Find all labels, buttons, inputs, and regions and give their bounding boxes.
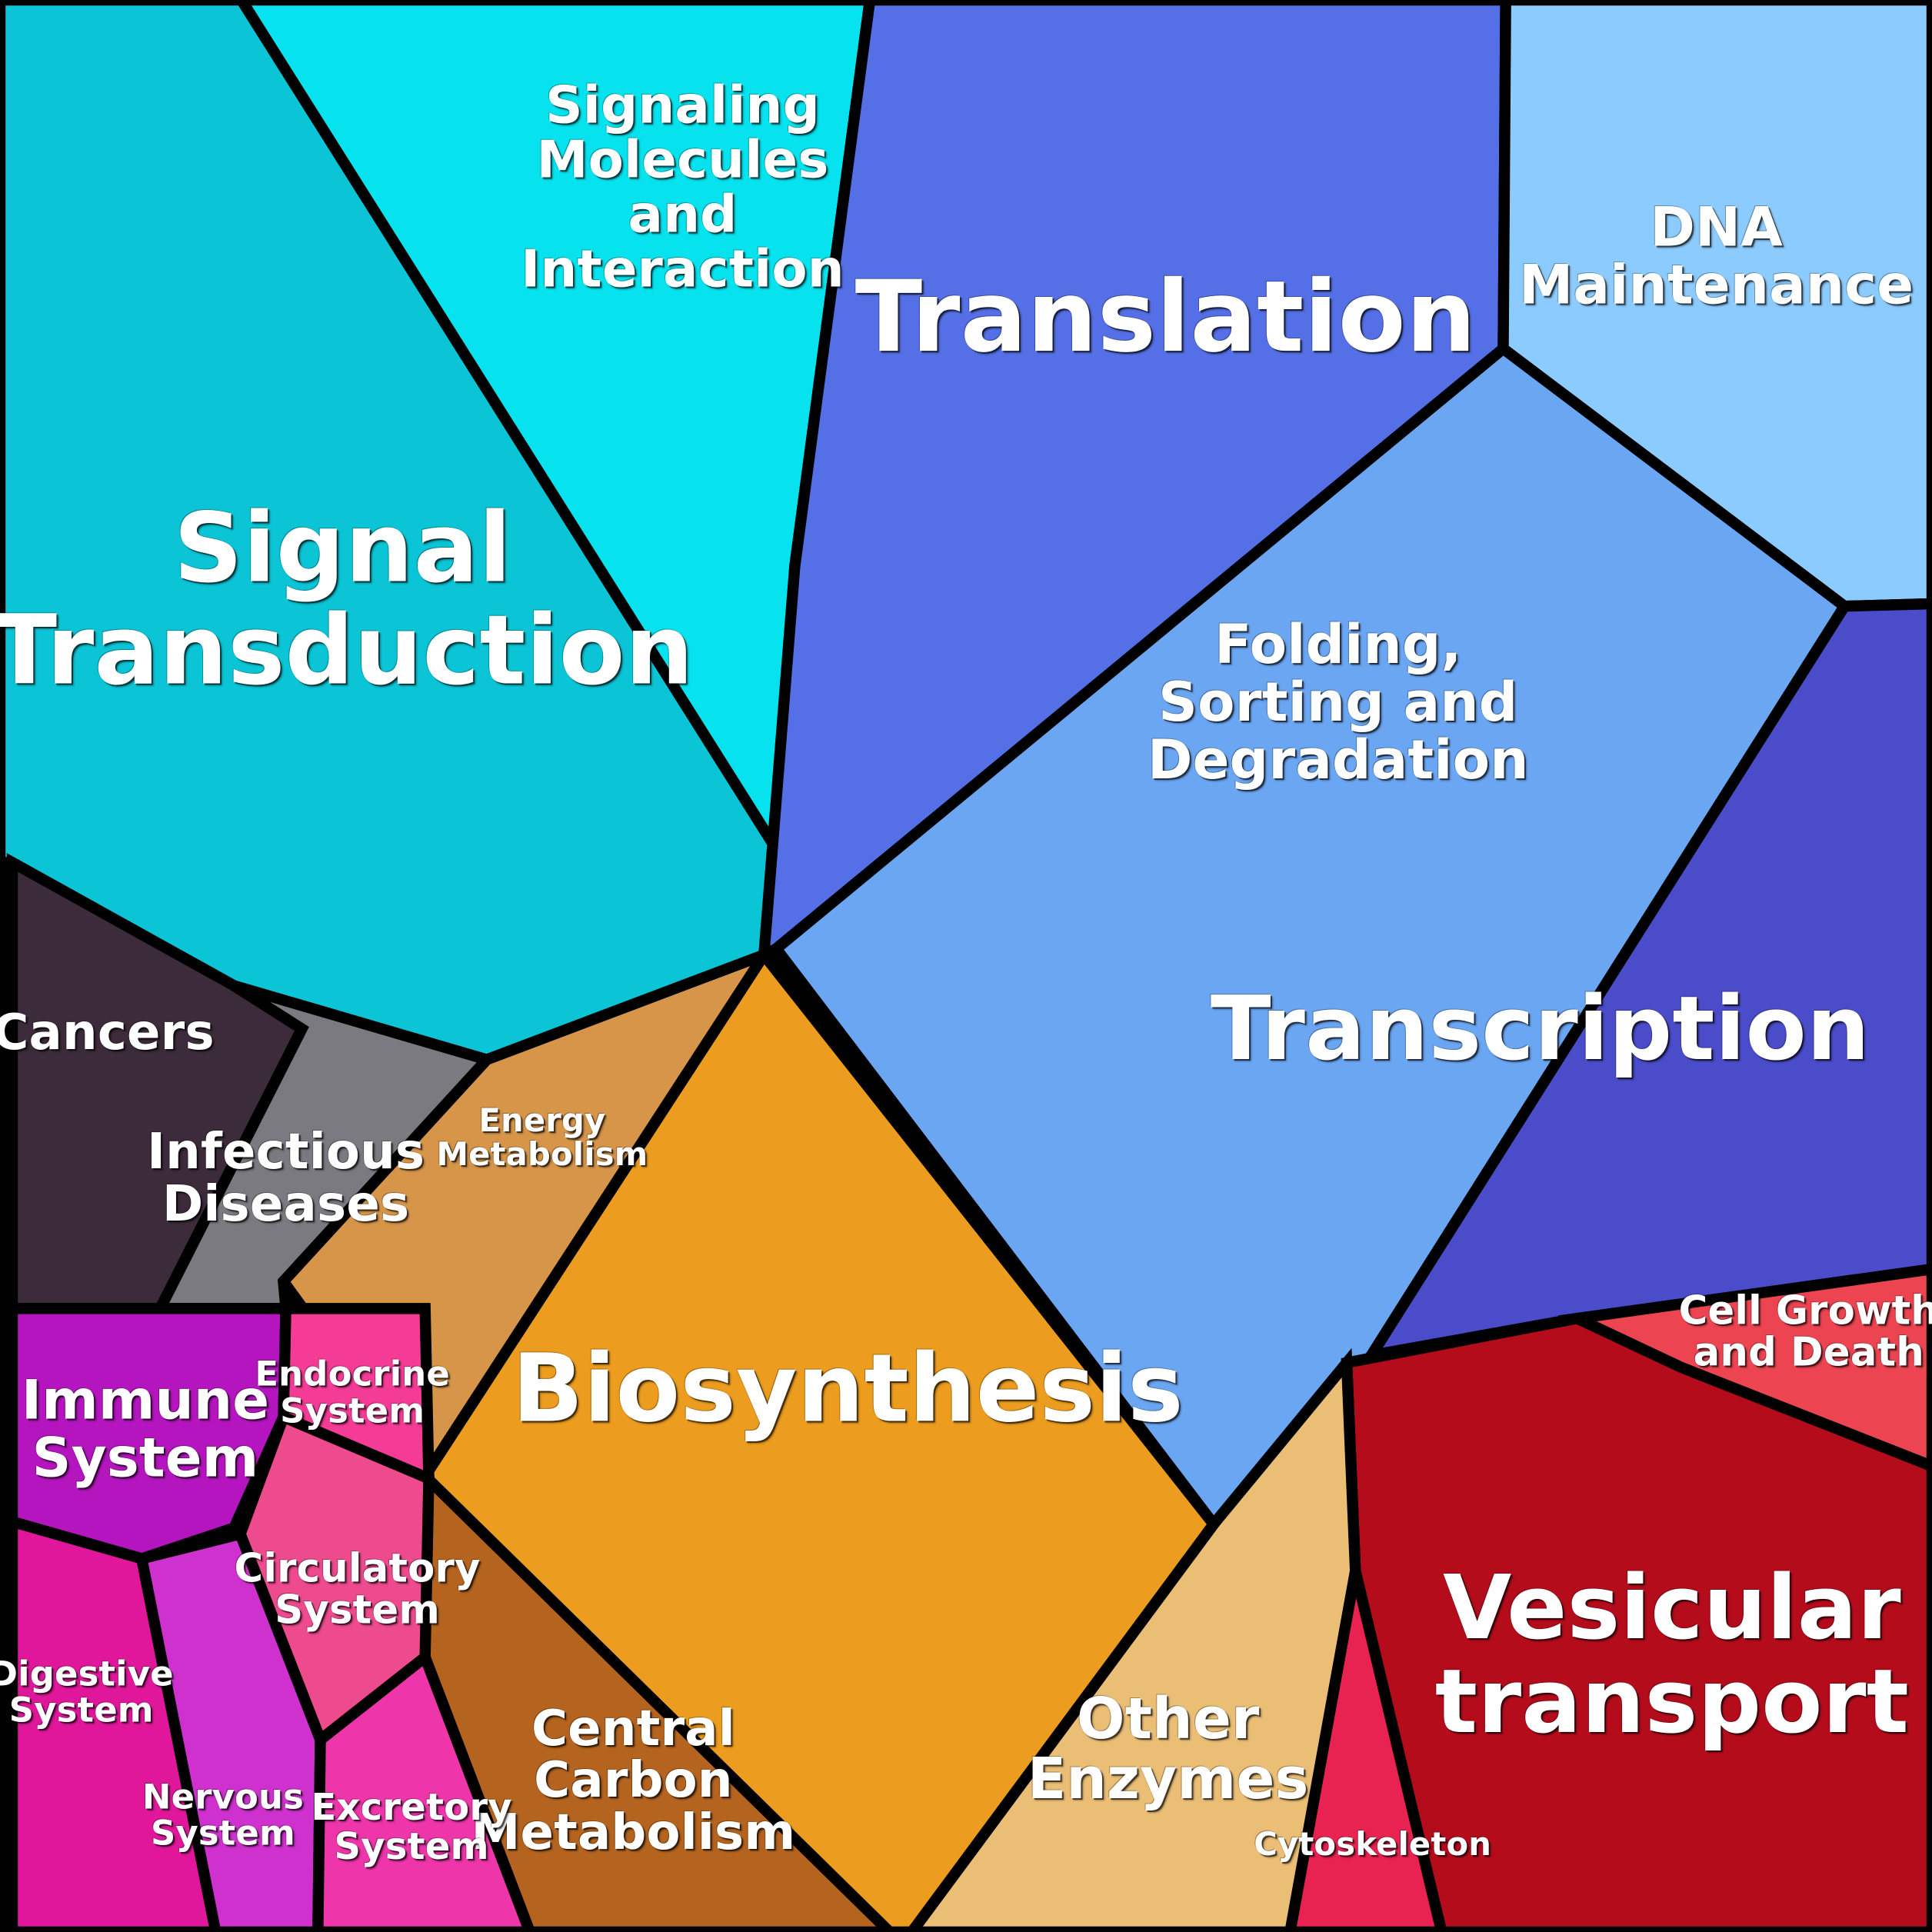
voronoi-treemap-figure: Signal TransductionSignaling Molecules a… bbox=[0, 0, 1932, 1932]
voronoi-cells-svg bbox=[0, 0, 1932, 1932]
